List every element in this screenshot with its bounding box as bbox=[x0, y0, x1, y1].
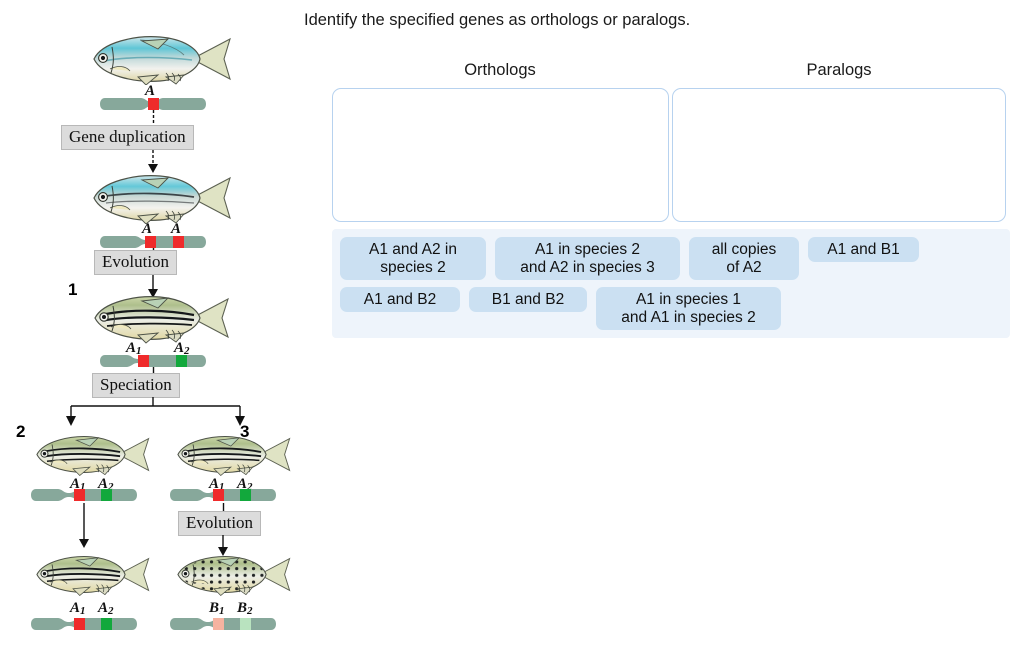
answer-tile-a1-in-species-1-and-a1-in-species-2[interactable]: A1 in species 1 and A1 in species 2 bbox=[596, 287, 781, 330]
dropzone-title-paralogs: Paralogs bbox=[672, 61, 1006, 80]
chromosome-species-2 bbox=[31, 488, 137, 502]
step-evolution-2: Evolution bbox=[178, 511, 261, 536]
answer-tile-a1-in-species-2-and-a2-in-species-3[interactable]: A1 in species 2 and A2 in species 3 bbox=[495, 237, 680, 280]
step-evolution-1: Evolution bbox=[94, 250, 177, 275]
gene-label-final-a2: A2 bbox=[98, 600, 114, 617]
gene-label-final-a1: A1 bbox=[70, 600, 86, 617]
species-number-1: 1 bbox=[68, 280, 77, 300]
connector-dup-top bbox=[152, 110, 155, 126]
step-gene-duplication: Gene duplication bbox=[61, 125, 194, 150]
fish-ancestral bbox=[80, 33, 235, 85]
fish-species-2-descendant bbox=[26, 552, 152, 597]
dropzone-title-orthologs: Orthologs bbox=[332, 61, 668, 80]
gene-label-final-b1: B1 bbox=[209, 600, 225, 617]
dropzone-orthologs[interactable] bbox=[332, 88, 669, 222]
arrow-species-2-down bbox=[77, 503, 91, 549]
chromosome-species-1 bbox=[100, 354, 206, 368]
answer-tile-a1-and-b2[interactable]: A1 and B2 bbox=[340, 287, 460, 312]
chromosome-ancestral bbox=[100, 97, 206, 111]
answer-tile-bank[interactable]: A1 and A2 in species 2 A1 in species 2 a… bbox=[332, 229, 1010, 338]
gene-label-final-b2: B2 bbox=[237, 600, 253, 617]
fish-species-1 bbox=[82, 292, 232, 344]
chromosome-final-species-3 bbox=[170, 617, 276, 631]
chromosome-final-species-2 bbox=[31, 617, 137, 631]
answer-tile-a1-and-b1[interactable]: A1 and B1 bbox=[808, 237, 919, 262]
fish-species-3-descendant bbox=[167, 552, 293, 597]
fish-species-2 bbox=[26, 432, 152, 477]
classification-task-panel: Identify the specified genes as ortholog… bbox=[300, 0, 1024, 657]
species-number-2: 2 bbox=[16, 422, 25, 442]
fish-duplicated bbox=[80, 172, 235, 224]
task-prompt: Identify the specified genes as ortholog… bbox=[304, 11, 690, 30]
answer-tile-a1-and-a2-in-species-2[interactable]: A1 and A2 in species 2 bbox=[340, 237, 486, 280]
dropzone-paralogs[interactable] bbox=[672, 88, 1006, 222]
answer-tile-b1-and-b2[interactable]: B1 and B2 bbox=[469, 287, 587, 312]
speciation-branch-arrows bbox=[58, 397, 254, 427]
chromosome-species-3 bbox=[170, 488, 276, 502]
gene-evolution-diagram: A Gene duplication bbox=[0, 0, 320, 657]
step-speciation: Speciation bbox=[92, 373, 180, 398]
arrow-gene-duplication bbox=[146, 150, 160, 174]
fish-species-3 bbox=[167, 432, 293, 477]
chromosome-duplicated bbox=[100, 235, 206, 249]
answer-tile-all-copies-of-a2[interactable]: all copies of A2 bbox=[689, 237, 799, 280]
